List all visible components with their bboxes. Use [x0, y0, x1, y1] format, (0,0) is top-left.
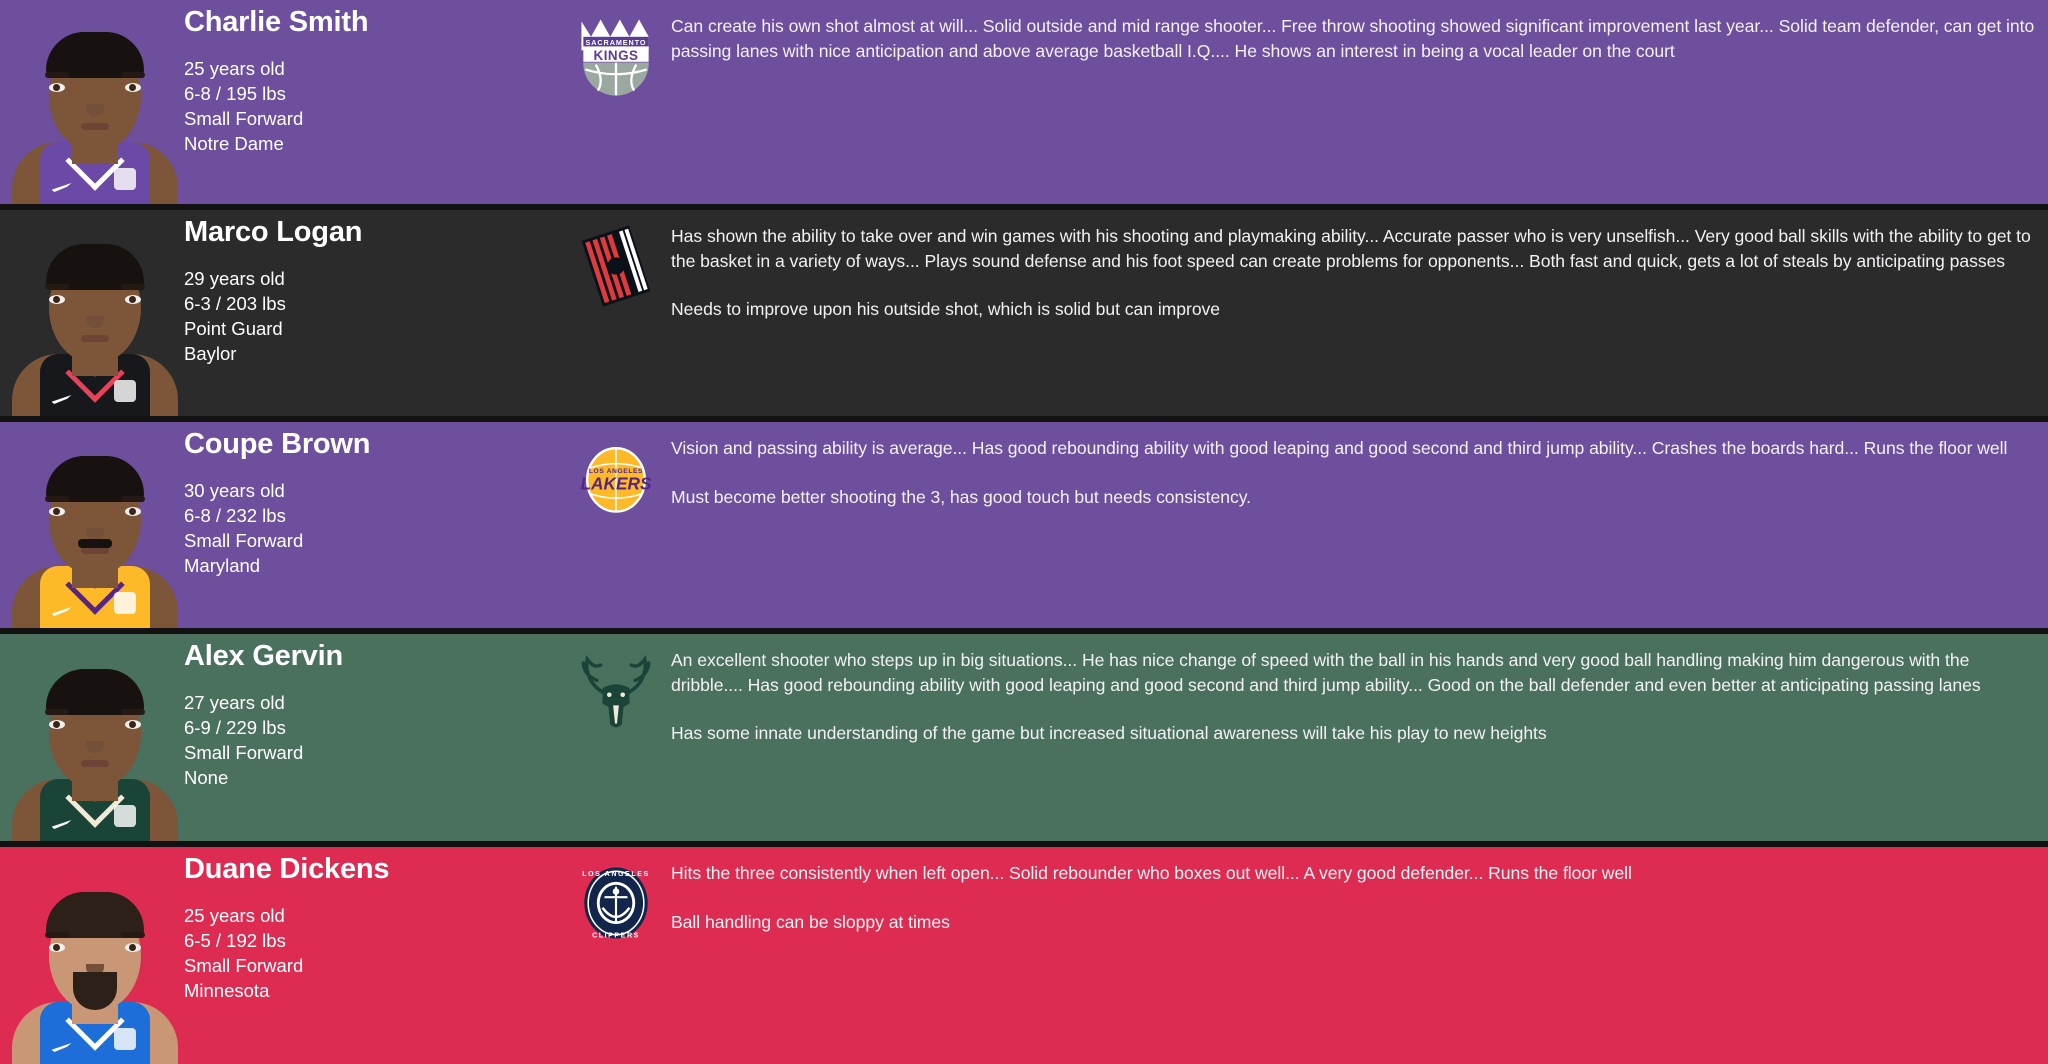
nike-swoosh-icon [52, 607, 72, 616]
player-school: None [184, 765, 561, 790]
scouting-report-paragraph: Vision and passing ability is average...… [671, 436, 2044, 461]
avatar-eyebrow-right [121, 496, 145, 502]
player-position: Small Forward [184, 528, 561, 553]
scouting-report: Vision and passing ability is average...… [671, 422, 2048, 509]
player-measurements: 6-9 / 229 lbs [184, 715, 561, 740]
jersey-sponsor-patch-icon [114, 380, 136, 402]
avatar-eyebrow-right [121, 709, 145, 715]
jersey-sponsor-patch-icon [114, 805, 136, 827]
avatar-eye-right [125, 507, 141, 516]
player-age: 29 years old [184, 266, 561, 291]
player-name[interactable]: Charlie Smith [184, 6, 561, 39]
avatar-eye-left [49, 720, 65, 729]
avatar-eyebrow-right [121, 284, 145, 290]
scouting-report-paragraph: Has some innate understanding of the gam… [671, 721, 2044, 746]
avatar-eye-right [125, 295, 141, 304]
player-measurements: 6-8 / 195 lbs [184, 81, 561, 106]
player-portrait-cell [0, 634, 181, 841]
avatar-mustache [78, 539, 112, 548]
nike-swoosh-icon [52, 1043, 72, 1052]
portland-trail-blazers-logo[interactable] [568, 218, 664, 314]
player-school: Baylor [184, 341, 561, 366]
avatar-eyebrow-right [121, 72, 145, 78]
team-logo-cell[interactable]: SACRAMENTO KINGS [561, 0, 671, 204]
player-school: Minnesota [184, 978, 561, 1003]
avatar-mouth [81, 760, 109, 767]
player-portrait-cell [0, 210, 181, 416]
avatar-eyebrow-left [45, 72, 69, 78]
scouting-report: Has shown the ability to take over and w… [671, 210, 2048, 322]
player-avatar [12, 634, 178, 841]
scouting-report: An excellent shooter who steps up in big… [671, 634, 2048, 746]
player-position: Point Guard [184, 316, 561, 341]
player-portrait-cell [0, 847, 181, 1064]
player-measurements: 6-5 / 192 lbs [184, 928, 561, 953]
player-position: Small Forward [184, 106, 561, 131]
nike-swoosh-icon [52, 820, 72, 829]
milwaukee-bucks-logo[interactable] [568, 642, 664, 738]
team-logo-cell[interactable]: LOS ANGELES LAKERS [561, 422, 671, 628]
scouting-report-paragraph: Needs to improve upon his outside shot, … [671, 297, 2044, 322]
player-identity: Coupe Brown 30 years old 6-8 / 232 lbs S… [181, 422, 561, 578]
svg-text:KINGS: KINGS [594, 48, 639, 63]
scouting-report-paragraph: Hits the three consistently when left op… [671, 861, 2044, 886]
player-age: 27 years old [184, 690, 561, 715]
avatar-mustache [78, 975, 112, 984]
jersey-sponsor-patch-icon [114, 592, 136, 614]
player-measurements: 6-8 / 232 lbs [184, 503, 561, 528]
team-logo-cell[interactable]: LOS ANGELES CLIPPERS [561, 847, 671, 1064]
player-avatar [12, 847, 178, 1064]
svg-text:LOS ANGELES: LOS ANGELES [582, 870, 649, 878]
scouting-report-paragraph: Must become better shooting the 3, has g… [671, 485, 2044, 510]
player-age: 25 years old [184, 903, 561, 928]
player-position: Small Forward [184, 740, 561, 765]
avatar-eyebrow-left [45, 932, 69, 938]
player-name[interactable]: Marco Logan [184, 216, 561, 249]
nike-swoosh-icon [52, 395, 72, 404]
svg-text:LAKERS: LAKERS [581, 474, 652, 494]
avatar-mouth [81, 547, 109, 554]
svg-text:CLIPPERS: CLIPPERS [592, 932, 640, 940]
avatar-eye-left [49, 295, 65, 304]
scouting-report-paragraph: Can create his own shot almost at will..… [671, 14, 2044, 63]
player-row[interactable]: Duane Dickens 25 years old 6-5 / 192 lbs… [0, 844, 2048, 1064]
player-identity: Charlie Smith 25 years old 6-8 / 195 lbs… [181, 0, 561, 156]
player-school: Notre Dame [184, 131, 561, 156]
player-name[interactable]: Alex Gervin [184, 640, 561, 673]
nike-swoosh-icon [52, 183, 72, 192]
player-row[interactable]: Charlie Smith 25 years old 6-8 / 195 lbs… [0, 0, 2048, 207]
los-angeles-lakers-logo[interactable]: LOS ANGELES LAKERS [568, 430, 664, 526]
player-row[interactable]: Coupe Brown 30 years old 6-8 / 232 lbs S… [0, 419, 2048, 631]
player-portrait-cell [0, 0, 181, 204]
player-position: Small Forward [184, 953, 561, 978]
player-name[interactable]: Duane Dickens [184, 853, 561, 886]
avatar-eyebrow-left [45, 284, 69, 290]
avatar-mouth [81, 335, 109, 342]
avatar-eyebrow-right [121, 932, 145, 938]
player-school: Maryland [184, 553, 561, 578]
player-row[interactable]: Alex Gervin 27 years old 6-9 / 229 lbs S… [0, 631, 2048, 844]
player-avatar [12, 0, 178, 204]
svg-text:SACRAMENTO: SACRAMENTO [586, 38, 647, 47]
jersey-sponsor-patch-icon [114, 168, 136, 190]
los-angeles-clippers-logo[interactable]: LOS ANGELES CLIPPERS [568, 855, 664, 951]
avatar-eye-right [125, 83, 141, 92]
player-age: 25 years old [184, 56, 561, 81]
player-row[interactable]: Marco Logan 29 years old 6-3 / 203 lbs P… [0, 207, 2048, 419]
avatar-eye-right [125, 943, 141, 952]
scouting-report-paragraph: An excellent shooter who steps up in big… [671, 648, 2044, 697]
team-logo-cell[interactable] [561, 210, 671, 416]
avatar-mouth [81, 123, 109, 130]
scouting-report: Can create his own shot almost at will..… [671, 0, 2048, 63]
jersey-sponsor-patch-icon [114, 1028, 136, 1050]
avatar-eye-left [49, 507, 65, 516]
scouting-report-list: Charlie Smith 25 years old 6-8 / 195 lbs… [0, 0, 2048, 1064]
player-identity: Alex Gervin 27 years old 6-9 / 229 lbs S… [181, 634, 561, 790]
team-logo-cell[interactable] [561, 634, 671, 841]
scouting-report-paragraph: Ball handling can be sloppy at times [671, 910, 2044, 935]
player-identity: Marco Logan 29 years old 6-3 / 203 lbs P… [181, 210, 561, 366]
avatar-eye-left [49, 943, 65, 952]
scouting-report-paragraph: Has shown the ability to take over and w… [671, 224, 2044, 273]
player-portrait-cell [0, 422, 181, 628]
player-identity: Duane Dickens 25 years old 6-5 / 192 lbs… [181, 847, 561, 1003]
scouting-report: Hits the three consistently when left op… [671, 847, 2048, 934]
player-name[interactable]: Coupe Brown [184, 428, 561, 461]
player-avatar [12, 422, 178, 628]
player-avatar [12, 210, 178, 416]
avatar-eyebrow-left [45, 496, 69, 502]
avatar-eye-right [125, 720, 141, 729]
avatar-eyebrow-left [45, 709, 69, 715]
player-measurements: 6-3 / 203 lbs [184, 291, 561, 316]
player-age: 30 years old [184, 478, 561, 503]
sacramento-kings-logo[interactable]: SACRAMENTO KINGS [568, 8, 664, 104]
avatar-eye-left [49, 83, 65, 92]
